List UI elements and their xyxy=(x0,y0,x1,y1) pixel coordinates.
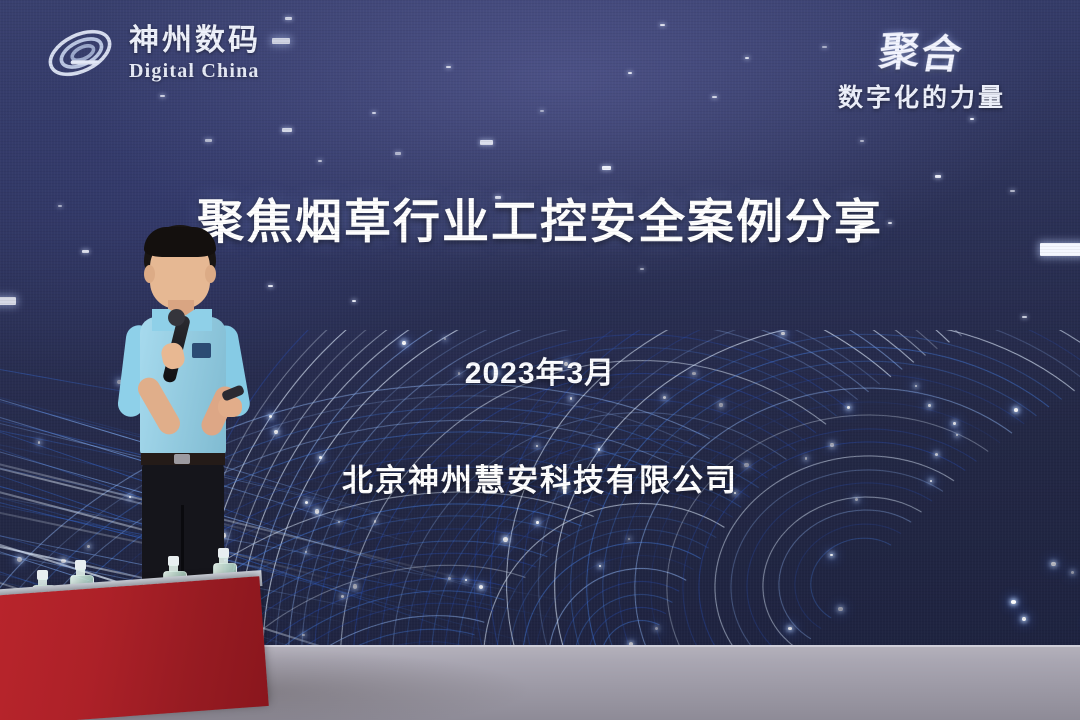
deco-bar-left xyxy=(0,297,16,305)
shirt-logo-icon xyxy=(192,343,211,358)
conference-stage-photo: 神州数码 Digital China 聚合 数字化的力量 聚焦烟草行业工控安全案… xyxy=(0,0,1080,720)
speaker-belt-buckle xyxy=(174,454,190,464)
event-tagline: 数字化的力量 xyxy=(792,78,1052,114)
speaker-right-hand xyxy=(218,397,242,417)
deco-bar-topleft xyxy=(272,38,290,44)
speaker-right-ear xyxy=(205,265,216,283)
red-table-skirt xyxy=(0,576,269,720)
speaker-hair-front xyxy=(144,227,216,257)
brand-name-en: Digital China xyxy=(129,61,261,81)
calligraphy-char-1: 聚 xyxy=(877,28,924,75)
brand-logo: 神州数码 Digital China xyxy=(44,22,261,84)
event-calligraphy: 聚合 xyxy=(877,16,968,78)
digital-china-swirl-icon xyxy=(44,22,116,84)
brand-name-cn: 神州数码 xyxy=(129,26,261,56)
speaker-left-ear xyxy=(144,265,155,283)
calligraphy-char-2: 合 xyxy=(917,22,969,81)
event-logo: 聚合 数字化的力量 xyxy=(792,18,1052,114)
